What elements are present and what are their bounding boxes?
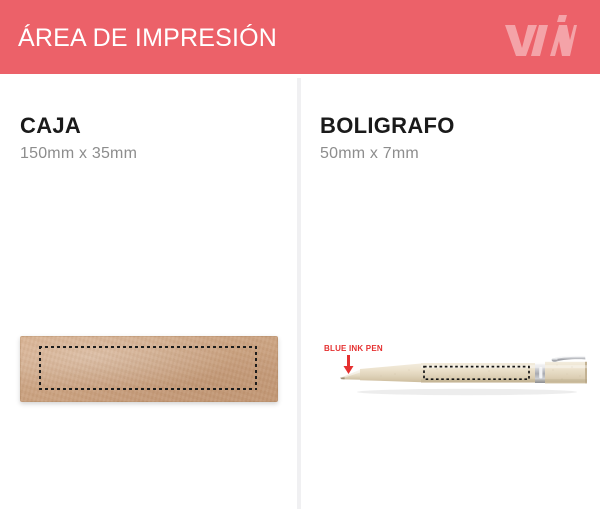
kraft-box-image xyxy=(20,336,278,402)
blue-ink-pen-label: BLUE INK PEN xyxy=(324,344,383,353)
pen-image: BLUE INK PEN xyxy=(317,334,587,406)
down-arrow-icon xyxy=(343,355,354,374)
panel-caja-size: 150mm x 35mm xyxy=(20,145,137,163)
panel-boligrafo: BOLIGRAFO 50mm x 7mm BLUE INK PEN xyxy=(301,74,600,509)
panel-boligrafo-size: 50mm x 7mm xyxy=(320,145,419,163)
win-logo xyxy=(504,14,578,60)
box-print-area-outline xyxy=(39,346,257,390)
panel-boligrafo-title: BOLIGRAFO xyxy=(320,113,455,139)
panel-caja: CAJA 150mm x 35mm xyxy=(0,74,297,509)
panel-caja-title: CAJA xyxy=(20,113,81,139)
page-header: ÁREA DE IMPRESIÓN xyxy=(0,0,600,74)
page-title: ÁREA DE IMPRESIÓN xyxy=(18,23,277,53)
